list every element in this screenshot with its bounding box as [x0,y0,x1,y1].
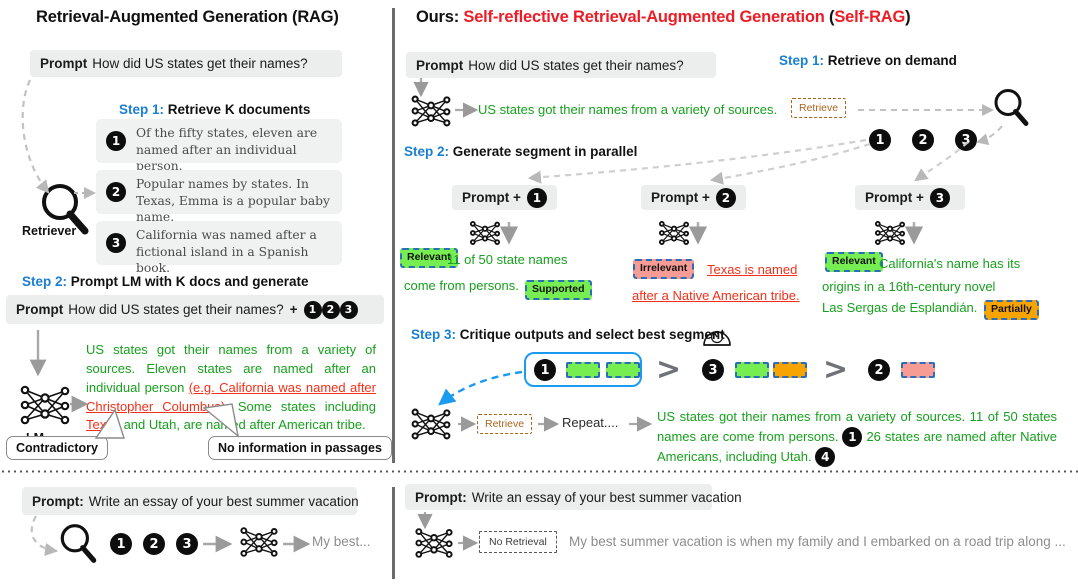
column-2-text-line2: after a Native American tribe. [632,287,847,306]
left-generation-text: US states got their names from a variety… [86,341,376,435]
right-step1-heading: Step 1: Retrieve on demand [779,53,957,68]
column-3-label: Prompt + [865,190,924,205]
bottom-left-prompt-label: Prompt: [32,494,84,509]
tag-supported-1: Supported [525,280,592,300]
left-prompt-bar-2: Prompt How did US states get their names… [6,295,384,324]
left-step1-heading: Step 1: Retrieve K documents [119,102,310,117]
prompt-doc-1: 1 [304,301,322,319]
bottom-left-doc-2: 2 [143,533,165,555]
left-prompt2-label: Prompt [16,302,63,317]
bottom-right-prompt-label: Prompt: [415,490,467,505]
left-step1-number: Step 1: [119,102,164,117]
retriever-label: Retriever [22,224,76,238]
repeat-label: Repeat.... [562,415,618,430]
final-citation-2: 4 [815,447,835,467]
right-step2-number: Step 2: [404,144,449,159]
right-step1-text: Retrieve on demand [828,53,957,68]
neural-network-icon [408,405,454,443]
left-prompt2-text: How did US states get their names? [68,302,283,317]
bottom-left-doc-1: 1 [110,533,132,555]
right-first-generation: US states got their names from a variety… [478,101,788,120]
left-panel-title: Retrieval-Augmented Generation (RAG) [36,8,339,27]
magnifier-icon [990,86,1032,128]
right-step1-number: Step 1: [779,53,824,68]
neural-network-icon [412,525,456,561]
column-1-text-line1: 11 of 50 state names [447,251,597,270]
right-title-prefix: Ours: [416,8,463,26]
column-2-header: Prompt + 2 [641,185,746,210]
gen-seg-3: and Utah, are named after [120,417,278,432]
figure-root: Retrieval-Augmented Generation (RAG) Pro… [0,0,1078,586]
neural-network-icon [872,219,908,247]
gauge-icon [702,324,732,348]
gen-seg-2: . Some states including [225,399,376,414]
right-prompt-label: Prompt [416,58,463,73]
rank-operator-2: > [823,355,848,385]
right-title-abbrev: Self-RAG [834,8,905,26]
right-prompt-bar: Prompt How did US states get their names… [406,52,716,78]
column-2-label: Prompt + [651,190,710,205]
right-step3-text: Critique outputs and select best segment [460,327,725,342]
rank-doc-1: 1 [534,359,556,381]
passage-item: Of the fifty states, eleven are named af… [96,119,342,163]
column-1-header: Prompt + 1 [452,185,557,210]
passage-item: California was named after a fictional i… [96,221,342,265]
tag-partially-3: Partially [984,300,1039,320]
final-citation-1: 1 [842,427,862,447]
bottom-right-prompt-text: Write an essay of your best summer vacat… [472,490,742,505]
column-1-label: Prompt + [462,190,521,205]
rank-2-swatch-1 [901,362,935,378]
neural-network-icon [16,382,74,428]
no-retrieval-token: No Retrieval [479,531,557,553]
right-step3-heading: Step 3: Critique outputs and select best… [411,327,725,342]
left-prompt2-plus: + [290,302,298,317]
bottom-right-output: My best summer vacation is when my famil… [569,534,1066,549]
vertical-divider-top [392,8,395,463]
rank-1-swatch-2 [606,362,640,378]
passage-text: Popular names by states. In Texas, Emma … [136,177,330,224]
column-3-header: Prompt + 3 [855,185,965,210]
callout-no-information: No information in passages [208,436,392,460]
vertical-divider-bottom [392,487,395,579]
rank-doc-2: 2 [868,359,890,381]
magnifier-icon [56,521,100,565]
left-step2-heading: Step 2: Prompt LM with K docs and genera… [22,274,309,289]
rank-doc-3: 3 [702,359,724,381]
passage-index-1: 1 [106,131,126,151]
right-title-paren-open: ( [825,8,835,26]
retrieved-doc-3: 3 [955,129,977,151]
bottom-right-prompt-bar: Prompt: Write an essay of your best summ… [405,484,712,510]
retrieved-doc-1: 1 [869,129,891,151]
right-step3-number: Step 3: [411,327,456,342]
bottom-left-prompt-text: Write an essay of your best summer vacat… [89,494,359,509]
loop-retrieve-token: Retrieve [477,414,532,434]
passage-text: Of the fifty states, eleven are named af… [136,126,317,173]
right-title-paren-close: ) [905,8,910,26]
gen-seg-4: American tribe. [278,417,365,432]
prompt-doc-2: 2 [322,301,340,319]
right-prompt-text: How did US states get their names? [468,58,683,73]
right-step2-text: Generate segment in parallel [453,144,638,159]
passage-index-2: 2 [106,182,126,202]
passage-item: Popular names by states. In Texas, Emma … [96,170,342,214]
rank-operator-1: > [656,355,681,385]
gen-noinfo-span: Texas [86,417,120,432]
prompt-doc-3: 3 [340,301,358,319]
neural-network-icon [408,92,454,130]
column-3-text-line2: origins in a 16th-century novel [822,278,1052,297]
right-step2-heading: Step 2: Generate segment in parallel [404,144,637,159]
bottom-left-output: My best... [312,534,371,549]
column-3-doc: 3 [930,188,950,208]
right-title-main: Self-reflective Retrieval-Augmented Gene… [463,8,824,26]
column-1-doc: 1 [527,188,547,208]
rank-3-swatch-1 [735,362,769,378]
passage-index-3: 3 [106,233,126,253]
passage-text: California was named after a fictional i… [136,228,317,275]
tag-irrelevant-2: Irrelevant [633,259,694,279]
retrieve-token: Retrieve [791,98,846,118]
callout-contradictory: Contradictory [6,436,108,460]
column-3-text-line3: Las Sergas de Esplandián. [822,299,982,318]
column-2-doc: 2 [716,188,736,208]
left-prompt-bar: Prompt How did US states get their names… [30,50,342,77]
left-step2-number: Step 2: [22,274,67,289]
rank-1-swatch-1 [566,362,600,378]
bottom-left-doc-3: 3 [176,533,198,555]
neural-network-icon [656,219,692,247]
bottom-left-prompt-bar: Prompt: Write an essay of your best summ… [22,487,357,515]
left-step2-text: Prompt LM with K docs and generate [71,274,309,289]
final-output-text: US states got their names from a variety… [657,408,1057,467]
right-panel-title: Ours: Self-reflective Retrieval-Augmente… [416,8,910,27]
column-3-text-line1: California's name has its [879,255,1049,274]
left-prompt-label: Prompt [40,56,87,71]
neural-network-icon [467,219,503,247]
horizontal-divider [0,470,1078,473]
left-step1-text: Retrieve K documents [168,102,311,117]
tag-relevant-3: Relevant [825,252,883,272]
rank-3-swatch-2 [773,362,807,378]
left-prompt-text: How did US states get their names? [92,56,307,71]
neural-network-icon [237,524,281,560]
retrieved-doc-2: 2 [912,129,934,151]
